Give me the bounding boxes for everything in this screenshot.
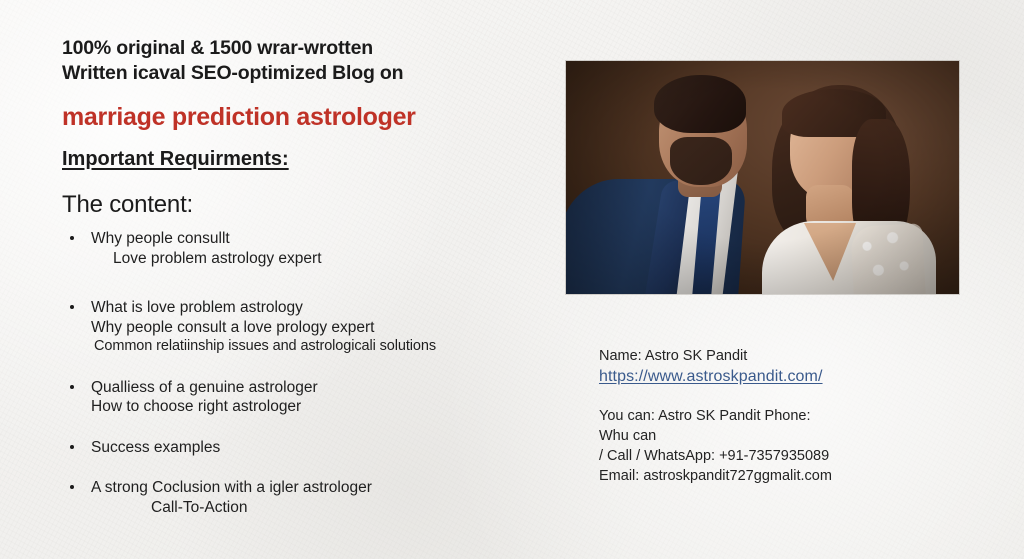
bullet-dot-icon <box>70 445 74 449</box>
website-link[interactable]: https://www.astroskpandit.com/ <box>599 366 823 388</box>
bullet-item: A strong Coclusion with a igler astrolog… <box>62 478 532 517</box>
wedding-couple-photo <box>566 61 959 294</box>
bullet-line: Call-To-Action <box>91 498 532 518</box>
bullet-line: What is love problem astrology <box>91 298 532 318</box>
bullet-dot-icon <box>70 236 74 240</box>
headline-line-2: Written icaval SEO-optimized Blog on <box>62 61 532 86</box>
bullet-line: Qualliess of a genuine astrologer <box>91 378 532 398</box>
content-section-title: The content: <box>62 190 532 220</box>
contact-you-can: You can: Astro SK Pandit Phone: <box>599 406 939 426</box>
contact-name: Name: Astro SK Pandit <box>599 346 929 366</box>
left-content-column: 100% original & 1500 wrar-wrotten Writte… <box>62 36 532 538</box>
contact-identity-block: Name: Astro SK Pandit https://www.astros… <box>599 346 929 388</box>
bullet-line: How to choose right astrologer <box>91 397 532 417</box>
bullet-line: Common relatiinship issues and astrologi… <box>91 337 532 357</box>
headline-block: 100% original & 1500 wrar-wrotten Writte… <box>62 36 532 86</box>
contact-email: Email: astroskpandit727ggmalit.com <box>599 466 939 486</box>
contact-whatsapp: / Call / WhatsApp: +91-7357935089 <box>599 446 939 466</box>
headline-line-1: 100% original & 1500 wrar-wrotten <box>62 36 532 61</box>
bullet-line: A strong Coclusion with a igler astrolog… <box>91 478 532 498</box>
photo-vignette-overlay <box>566 61 959 294</box>
bullet-line: Success examples <box>91 438 532 458</box>
bullet-dot-icon <box>70 385 74 389</box>
bullet-item: Success examples <box>62 438 532 458</box>
bullet-item: What is love problem astrologyWhy people… <box>62 298 532 357</box>
content-bullet-list: Why people consulltLove problem astrolog… <box>62 229 532 517</box>
bullet-dot-icon <box>70 485 74 489</box>
bullet-item: Why people consulltLove problem astrolog… <box>62 229 532 268</box>
bullet-line: Why people consullt <box>91 229 532 249</box>
slide-canvas: 100% original & 1500 wrar-wrotten Writte… <box>0 0 1024 559</box>
bullet-dot-icon <box>70 305 74 309</box>
requirements-title: Important Requirments: <box>62 146 289 172</box>
contact-details-block: You can: Astro SK Pandit Phone: Whu can … <box>599 406 939 486</box>
bullet-line: Love problem astrology expert <box>91 249 532 269</box>
bullet-item: Qualliess of a genuine astrologerHow to … <box>62 378 532 417</box>
bullet-line: Why people consult a love prology expert <box>91 318 532 338</box>
requirements-title-wrap: Important Requirments: <box>62 132 532 172</box>
contact-whu-can: Whu can <box>599 426 939 446</box>
keyword-title: marriage prediction astrologer <box>62 102 532 132</box>
